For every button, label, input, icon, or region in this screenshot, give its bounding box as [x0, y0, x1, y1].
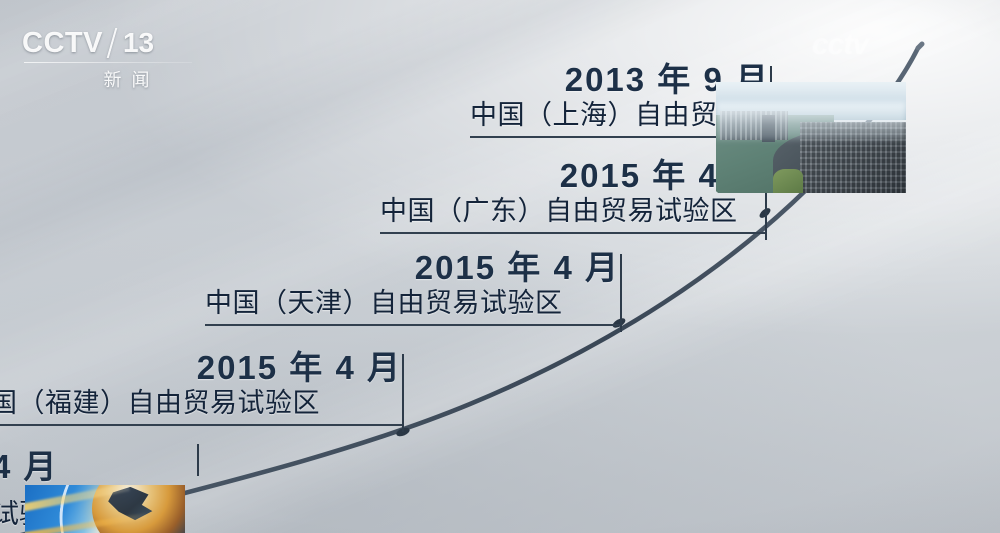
globe-graphic-inset[interactable] [25, 485, 185, 533]
broadcast-frame: CCTV 13 新闻 cctv 2013 年 9 月 中国（上海）自由贸易试验区… [0, 0, 1000, 533]
timeline-entry-name: 国（福建）自由贸易试验区 [0, 388, 402, 419]
timeline-entry-underline [380, 232, 765, 234]
timeline-entry-name: 中国（广东）自由贸易试验区 [380, 196, 765, 227]
city-video-inset[interactable] [716, 82, 906, 193]
timeline-entry-tick [402, 354, 404, 432]
timeline-entry-date: 2015 年 4 月 [0, 350, 402, 386]
timeline-entry-date: 4 月 [0, 440, 73, 488]
timeline-entry-underline [205, 324, 620, 326]
timeline-entry-tick [197, 444, 199, 476]
timeline-entry-underline [0, 424, 402, 426]
inset-top-fade [716, 82, 906, 193]
timeline-entry-date: 2015 年 4 月 [380, 158, 765, 194]
timeline-entry-date: 2015 年 4 月 [205, 250, 620, 286]
growth-curve-arrowhead [918, 44, 922, 48]
timeline-entry-fujian[interactable]: 2015 年 4 月 国（福建）自由贸易试验区 [0, 350, 402, 426]
timeline-entry-tick [620, 254, 622, 332]
timeline-entry-tianjin[interactable]: 2015 年 4 月 中国（天津）自由贸易试验区 [205, 250, 620, 326]
timeline-entry-name: 中国（天津）自由贸易试验区 [205, 288, 620, 319]
timeline-entry-guangdong[interactable]: 2015 年 4 月 中国（广东）自由贸易试验区 [380, 158, 765, 234]
